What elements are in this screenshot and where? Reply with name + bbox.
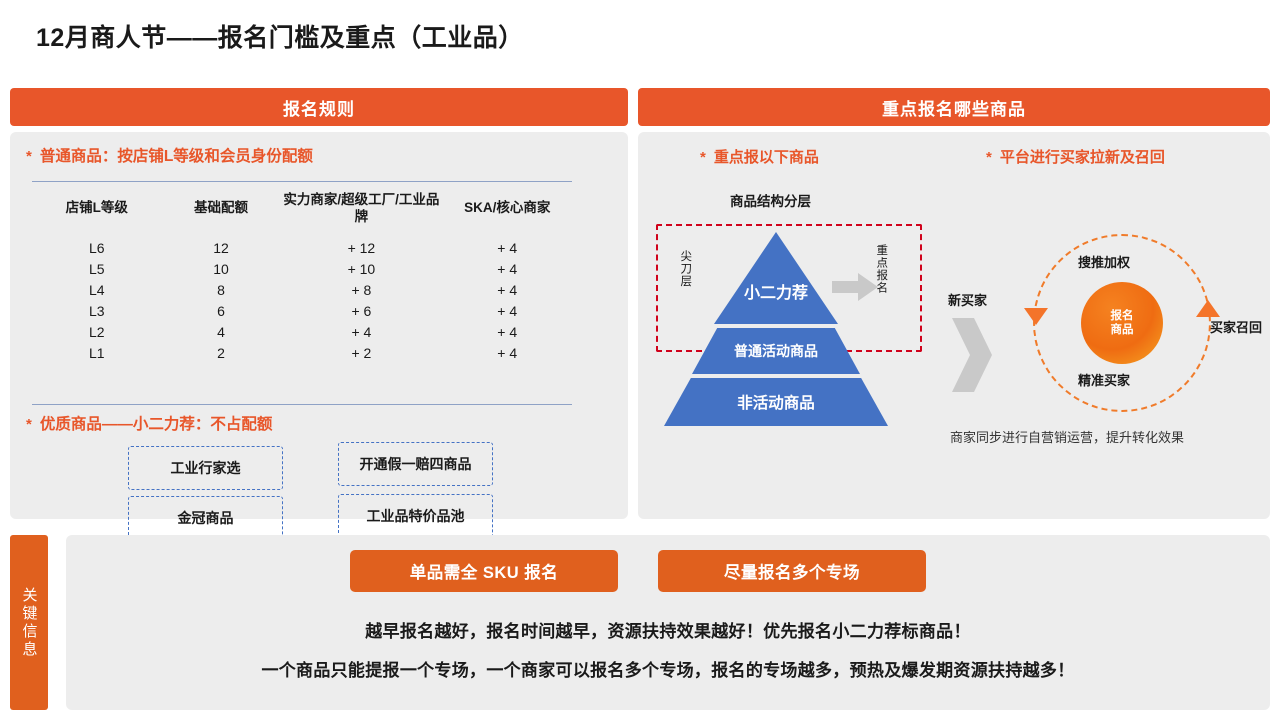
pyramid-side-label: 尖刀层: [678, 250, 691, 288]
cell-base: 10: [162, 259, 281, 280]
cell-ska: + 4: [442, 343, 572, 364]
cell-level: L6: [32, 238, 162, 259]
pyramid-flow-label: 重点报名: [874, 244, 887, 294]
cell-power: + 8: [280, 280, 442, 301]
circle-label-right: 买家召回: [1210, 317, 1262, 336]
pyramid-tier-top-label: 小二力荐: [714, 286, 838, 303]
slide-root: 12月商人节——报名门槛及重点（工业品） 报名规则 * 普通商品：按店铺L等级和…: [0, 0, 1280, 720]
table-row: L4 8 + 8 + 4: [32, 280, 572, 301]
table-row: L1 2 + 2 + 4: [32, 343, 572, 364]
cell-power: + 6: [280, 301, 442, 322]
quota-section-heading: * 普通商品：按店铺L等级和会员身份配额: [26, 144, 313, 166]
star-icon: *: [700, 150, 706, 165]
right-panel-body: * 重点报以下商品 * 平台进行买家拉新及召回 商品结构分层 尖刀层 小二力荐: [638, 132, 1270, 519]
cell-level: L4: [32, 280, 162, 301]
tile-golden-crown[interactable]: 金冠商品: [128, 496, 283, 540]
star-icon: *: [26, 417, 32, 432]
left-panel: 报名规则 * 普通商品：按店铺L等级和会员身份配额 店铺L等级 基础配额 实力商…: [10, 88, 628, 519]
right-heading-buyer-text: 平台进行买家拉新及召回: [1000, 146, 1165, 167]
circle-label-bottom: 精准买家: [1078, 370, 1130, 389]
right-heading-focus-text: 重点报以下商品: [714, 146, 819, 167]
star-icon: *: [26, 149, 32, 164]
right-panel: 重点报名哪些商品 * 重点报以下商品 * 平台进行买家拉新及召回 商品结构分层 …: [638, 88, 1270, 519]
cell-power: + 12: [280, 238, 442, 259]
cell-base: 4: [162, 322, 281, 343]
arrow-down-icon: [1024, 308, 1048, 325]
key-info-side-label: 关键信息: [19, 587, 40, 659]
circle-core-line1: 报名: [1111, 309, 1134, 323]
quota-heading-text: 普通商品：按店铺L等级和会员身份配额: [40, 144, 313, 166]
circle-core: 报名 商品: [1081, 282, 1163, 364]
table-rule-top: [32, 181, 572, 182]
cell-power: + 4: [280, 322, 442, 343]
pyramid-tier-bottom: 非活动商品: [664, 378, 888, 426]
left-panel-body: * 普通商品：按店铺L等级和会员身份配额 店铺L等级 基础配额 实力商家/超级工…: [10, 132, 628, 519]
premium-section-heading: * 优质商品——小二力荐：不占配额: [26, 412, 272, 434]
table-rule-bottom: [32, 404, 572, 405]
pyramid-tier-bottom-text: 非活动商品: [737, 391, 815, 413]
cell-level: L1: [32, 343, 162, 364]
right-panel-header: 重点报名哪些商品: [638, 88, 1270, 126]
cell-ska: + 4: [442, 259, 572, 280]
pyramid-diagram: 尖刀层 小二力荐 重点报名 普通活动商品 非活动商品: [656, 224, 956, 474]
star-icon: *: [986, 150, 992, 165]
arrow-up-icon: [1196, 300, 1220, 317]
table-row: L2 4 + 4 + 4: [32, 322, 572, 343]
pyramid-tier-top-shape: [714, 232, 838, 324]
cell-base: 2: [162, 343, 281, 364]
key-info-line-2: 一个商品只能提报一个专场，一个商家可以报名多个专场，报名的专场越多，预热及爆发期…: [66, 656, 1270, 681]
table-header-row: 店铺L等级 基础配额 实力商家/超级工厂/工业品牌 SKA/核心商家: [32, 188, 572, 238]
circle-label-left: 新买家: [948, 290, 987, 309]
cell-ska: + 4: [442, 280, 572, 301]
quota-table: 店铺L等级 基础配额 实力商家/超级工厂/工业品牌 SKA/核心商家 L6 12…: [32, 188, 572, 364]
column-header-power: 实力商家/超级工厂/工业品牌: [280, 188, 442, 238]
cell-ska: + 4: [442, 301, 572, 322]
tile-special-price-pool[interactable]: 工业品特价品池: [338, 494, 493, 538]
table-row: L5 10 + 10 + 4: [32, 259, 572, 280]
cell-power: + 10: [280, 259, 442, 280]
key-info-line-1: 越早报名越好，报名时间越早，资源扶持效果越好！优先报名小二力荐标商品！: [66, 617, 1270, 642]
cell-power: + 2: [280, 343, 442, 364]
column-header-base: 基础配额: [162, 188, 281, 238]
cell-base: 8: [162, 280, 281, 301]
cell-ska: + 4: [442, 322, 572, 343]
column-header-level: 店铺L等级: [32, 188, 162, 238]
key-info-body: 单品需全 SKU 报名 尽量报名多个专场 越早报名越好，报名时间越早，资源扶持效…: [66, 535, 1270, 710]
cell-level: L2: [32, 322, 162, 343]
cell-base: 12: [162, 238, 281, 259]
left-panel-header: 报名规则: [10, 88, 628, 126]
pyramid-tier-mid: 普通活动商品: [692, 328, 860, 374]
pill-full-sku[interactable]: 单品需全 SKU 报名: [350, 550, 618, 592]
tile-fake-compensation[interactable]: 开通假一赔四商品: [338, 442, 493, 486]
pyramid-tier-mid-text: 普通活动商品: [734, 341, 818, 361]
tile-industry-expert[interactable]: 工业行家选: [128, 446, 283, 490]
cell-level: L5: [32, 259, 162, 280]
product-structure-subtitle: 商品结构分层: [730, 190, 811, 210]
right-panel-note: 商家同步进行自营销运营，提升转化效果: [950, 427, 1184, 446]
cell-base: 6: [162, 301, 281, 322]
pill-multiple-sessions[interactable]: 尽量报名多个专场: [658, 550, 926, 592]
table-row: L6 12 + 12 + 4: [32, 238, 572, 259]
cell-level: L3: [32, 301, 162, 322]
right-heading-focus-products: * 重点报以下商品: [700, 146, 819, 167]
circle-core-line2: 商品: [1111, 323, 1134, 337]
table-row: L3 6 + 6 + 4: [32, 301, 572, 322]
pyramid-tier-top-text: 小二力荐: [744, 285, 808, 302]
column-header-ska: SKA/核心商家: [442, 188, 572, 238]
premium-heading-text: 优质商品——小二力荐：不占配额: [40, 412, 273, 434]
right-heading-buyer-growth: * 平台进行买家拉新及召回: [986, 146, 1165, 167]
circle-label-top: 搜推加权: [1078, 252, 1130, 271]
page-title: 12月商人节——报名门槛及重点（工业品）: [36, 18, 524, 54]
buyer-cycle-diagram: 报名 商品 搜推加权 精准买家 新买家 买家召回: [978, 222, 1268, 442]
cell-ska: + 4: [442, 238, 572, 259]
key-info-side-bar: 关键信息: [10, 535, 48, 710]
flow-arrow-icon: [832, 272, 878, 302]
